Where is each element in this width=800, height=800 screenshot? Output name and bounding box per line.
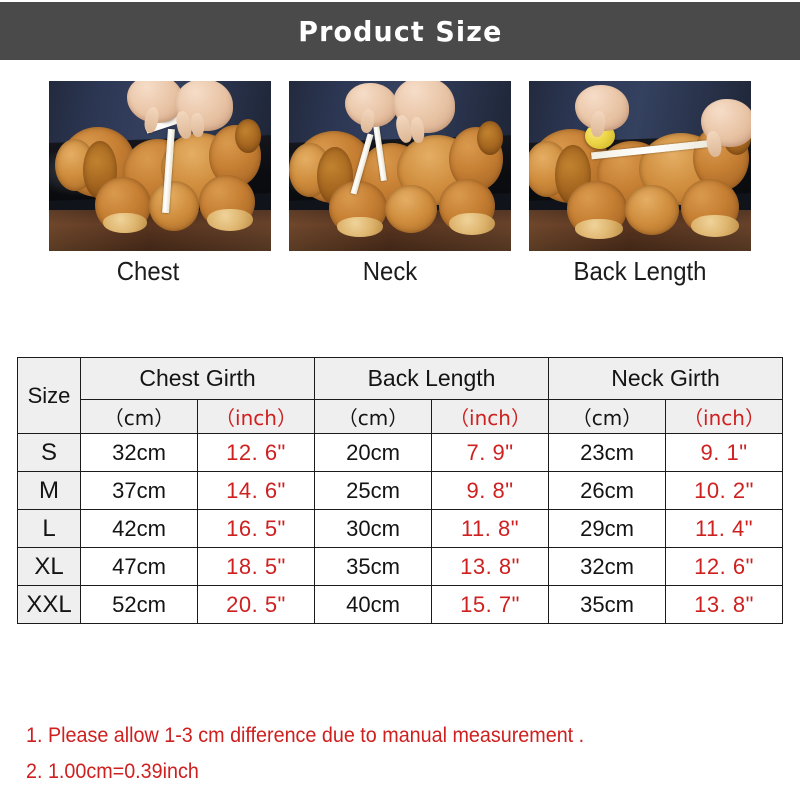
table-row: XL 47cm 18. 5" 35cm 13. 8" 32cm 12. 6"	[18, 548, 783, 586]
table-row: S 32cm 12. 6" 20cm 7. 9" 23cm 9. 1"	[18, 434, 783, 472]
caption-chest: Chest	[45, 256, 251, 287]
cell-chest-in: 20. 5"	[198, 586, 315, 624]
table-row: L 42cm 16. 5" 30cm 11. 8" 29cm 11. 4"	[18, 510, 783, 548]
cell-back-in: 13. 8"	[432, 548, 549, 586]
cell-chest-in: 14. 6"	[198, 472, 315, 510]
cell-size: XXL	[18, 586, 81, 624]
header-chest-inch: （inch）	[198, 400, 315, 434]
cell-back-cm: 25cm	[315, 472, 432, 510]
cell-chest-in: 16. 5"	[198, 510, 315, 548]
cell-back-cm: 35cm	[315, 548, 432, 586]
cell-back-in: 11. 8"	[432, 510, 549, 548]
header-back-cm: （cm）	[315, 400, 432, 434]
cell-neck-cm: 29cm	[549, 510, 666, 548]
cell-chest-cm: 47cm	[81, 548, 198, 586]
size-chart-table: Size Chest Girth Back Length Neck Girth …	[17, 357, 783, 624]
cell-chest-cm: 42cm	[81, 510, 198, 548]
cell-back-in: 7. 9"	[432, 434, 549, 472]
header-band: Product Size	[0, 2, 800, 60]
cell-chest-in: 12. 6"	[198, 434, 315, 472]
cell-chest-cm: 52cm	[81, 586, 198, 624]
header-chest-cm: （cm）	[81, 400, 198, 434]
cell-chest-in: 18. 5"	[198, 548, 315, 586]
header-size: Size	[18, 358, 81, 434]
cell-chest-cm: 32cm	[81, 434, 198, 472]
cell-back-cm: 30cm	[315, 510, 432, 548]
table-row: XXL 52cm 20. 5" 40cm 15. 7" 35cm 13. 8"	[18, 586, 783, 624]
cell-neck-in: 13. 8"	[666, 586, 783, 624]
photo-neck	[288, 80, 512, 252]
table-row: M 37cm 14. 6" 25cm 9. 8" 26cm 10. 2"	[18, 472, 783, 510]
cell-back-in: 15. 7"	[432, 586, 549, 624]
caption-back-length: Back Length	[537, 256, 743, 287]
cell-neck-cm: 26cm	[549, 472, 666, 510]
header-chest-girth: Chest Girth	[81, 358, 315, 400]
cell-back-in: 9. 8"	[432, 472, 549, 510]
footnotes: 1. Please allow 1-3 cm difference due to…	[26, 718, 786, 790]
cell-neck-in: 12. 6"	[666, 548, 783, 586]
header-back-inch: （inch）	[432, 400, 549, 434]
cell-size: M	[18, 472, 81, 510]
caption-neck: Neck	[287, 256, 493, 287]
page-title: Product Size	[298, 15, 502, 48]
footnote-1: 1. Please allow 1-3 cm difference due to…	[26, 718, 740, 754]
photo-chest	[48, 80, 272, 252]
header-back-length: Back Length	[315, 358, 549, 400]
cell-size: S	[18, 434, 81, 472]
table-header-units: （cm） （inch） （cm） （inch） （cm） （inch）	[18, 400, 783, 434]
cell-chest-cm: 37cm	[81, 472, 198, 510]
header-neck-cm: （cm）	[549, 400, 666, 434]
header-neck-inch: （inch）	[666, 400, 783, 434]
footnote-2: 2. 1.00cm=0.39inch	[26, 754, 740, 790]
cell-neck-cm: 23cm	[549, 434, 666, 472]
cell-neck-in: 9. 1"	[666, 434, 783, 472]
photo-neck-scene	[289, 81, 511, 251]
photo-back-length	[528, 80, 752, 252]
cell-neck-cm: 35cm	[549, 586, 666, 624]
photo-captions: Chest Neck Back Length	[0, 256, 800, 302]
photo-strip	[0, 80, 800, 255]
header-neck-girth: Neck Girth	[549, 358, 783, 400]
cell-back-cm: 40cm	[315, 586, 432, 624]
cell-neck-in: 10. 2"	[666, 472, 783, 510]
cell-size: L	[18, 510, 81, 548]
photo-back-length-scene	[529, 81, 751, 251]
table-header-groups: Size Chest Girth Back Length Neck Girth	[18, 358, 783, 400]
cell-neck-cm: 32cm	[549, 548, 666, 586]
photo-chest-scene	[49, 81, 271, 251]
cell-size: XL	[18, 548, 81, 586]
cell-back-cm: 20cm	[315, 434, 432, 472]
cell-neck-in: 11. 4"	[666, 510, 783, 548]
